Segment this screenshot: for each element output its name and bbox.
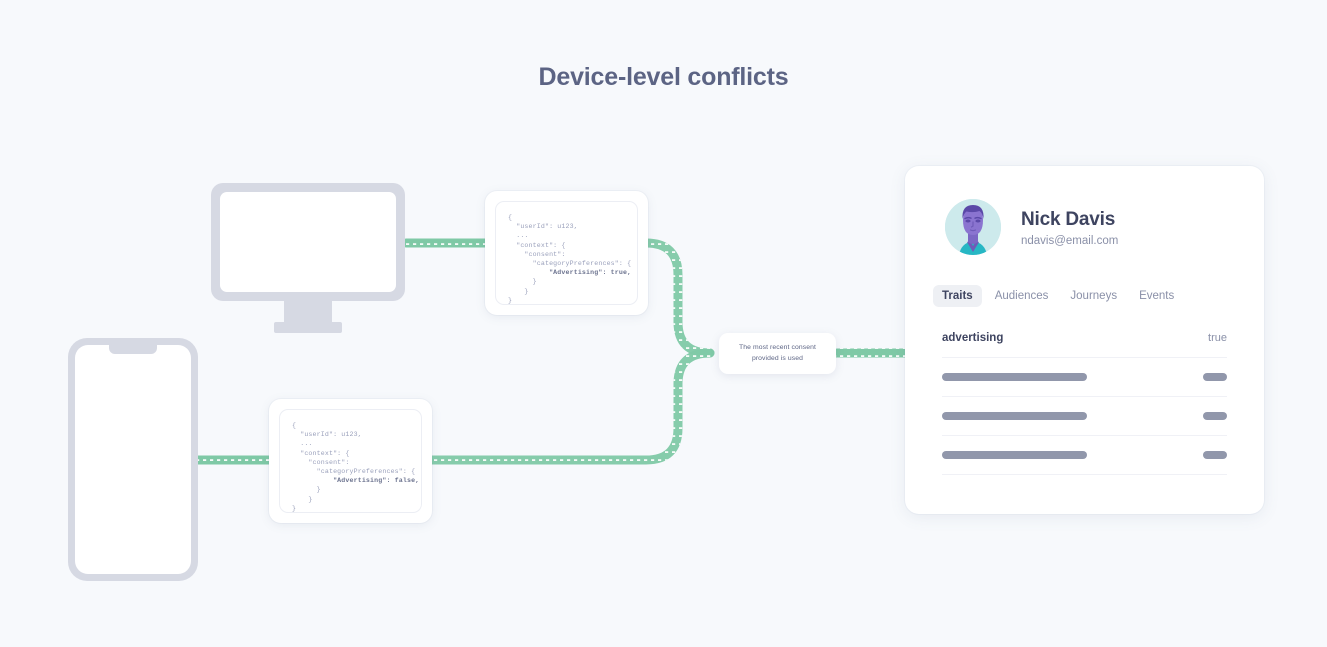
- diagram-stage: Device-level conflicts: [0, 0, 1327, 647]
- profile-tabs: Traits Audiences Journeys Events: [933, 285, 1227, 307]
- table-row: [942, 436, 1227, 475]
- trait-value-placeholder: [1203, 373, 1227, 381]
- tooltip-line-2: provided is used: [752, 355, 803, 362]
- desktop-payload-inner: { "userId": u123, ... "context": { "cons…: [495, 201, 638, 305]
- desktop-payload-code: { "userId": u123, ... "context": { "cons…: [508, 213, 625, 305]
- profile-card: Nick Davis ndavis@email.com Traits Audie…: [905, 166, 1264, 514]
- desktop-payload-card: { "userId": u123, ... "context": { "cons…: [485, 191, 648, 315]
- profile-header: Nick Davis ndavis@email.com: [942, 196, 1227, 258]
- mobile-payload-code: { "userId": u123, ... "context": { "cons…: [292, 421, 409, 513]
- mobile-phone-screen: [75, 345, 191, 574]
- table-row: advertising true: [942, 319, 1227, 358]
- trait-value: true: [1208, 332, 1227, 344]
- tab-traits[interactable]: Traits: [933, 285, 982, 307]
- trait-key-placeholder: [942, 451, 1087, 459]
- mobile-payload-card: { "userId": u123, ... "context": { "cons…: [269, 399, 432, 523]
- tooltip-line-1: The most recent consent: [739, 344, 816, 351]
- page-title: Device-level conflicts: [0, 63, 1327, 92]
- tooltip-text: The most recent consent provided is used: [739, 343, 816, 364]
- trait-value-placeholder: [1203, 412, 1227, 420]
- trait-key-placeholder: [942, 412, 1087, 420]
- profile-name: Nick Davis: [1021, 208, 1118, 232]
- desktop-monitor: [211, 183, 405, 301]
- mobile-phone-notch: [109, 345, 157, 354]
- trait-value-placeholder: [1203, 451, 1227, 459]
- profile-email: ndavis@email.com: [1021, 235, 1118, 247]
- tab-audiences[interactable]: Audiences: [986, 285, 1058, 307]
- table-row: [942, 358, 1227, 397]
- desktop-monitor-base: [274, 322, 342, 333]
- tab-journeys[interactable]: Journeys: [1061, 285, 1126, 307]
- avatar-circle: [945, 199, 1001, 255]
- avatar: [942, 196, 1004, 258]
- tab-events[interactable]: Events: [1130, 285, 1183, 307]
- trait-key: advertising: [942, 332, 1003, 344]
- avatar-illustration-icon: [945, 199, 1001, 255]
- profile-identity: Nick Davis ndavis@email.com: [1021, 208, 1118, 247]
- mobile-payload-inner: { "userId": u123, ... "context": { "cons…: [279, 409, 422, 513]
- consent-resolution-tooltip: The most recent consent provided is used: [719, 333, 836, 374]
- desktop-monitor-screen: [220, 192, 396, 292]
- desktop-monitor-stand: [284, 301, 332, 322]
- trait-key-placeholder: [942, 373, 1087, 381]
- traits-list: advertising true: [942, 319, 1227, 475]
- table-row: [942, 397, 1227, 436]
- mobile-phone: [68, 338, 198, 581]
